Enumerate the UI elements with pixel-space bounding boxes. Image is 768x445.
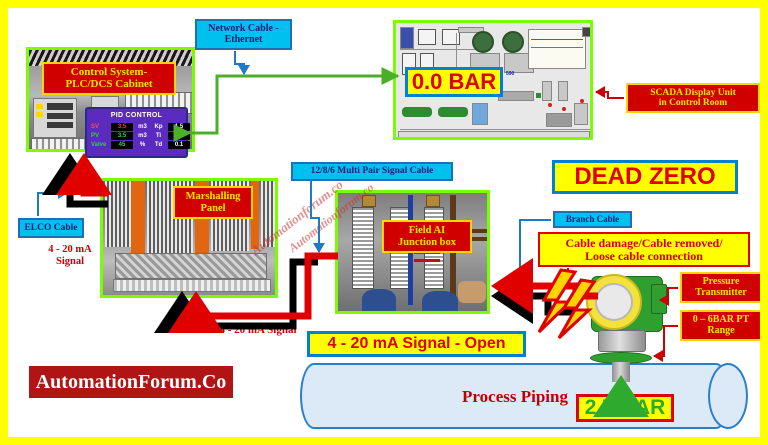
transmitter-neck xyxy=(598,330,646,352)
junction-gland xyxy=(426,195,440,207)
pid-row-unit: m3 xyxy=(136,124,149,130)
scada-equipment xyxy=(402,107,432,117)
pid-row-value: 3.5 xyxy=(111,132,133,140)
label-branch-cable: Branch Cable xyxy=(553,211,632,228)
scada-conveyor xyxy=(498,91,534,101)
label-network-cable: Network Cable - Ethernet xyxy=(195,19,292,50)
pid-control-panel: PID CONTROL SV3.5m3Kp1.5PV3.5m3Ti0.5Valv… xyxy=(85,107,188,158)
pid-gain-key: Kp xyxy=(152,124,165,130)
pid-row-unit: m3 xyxy=(136,133,149,139)
scada-alarm-dot xyxy=(548,103,552,107)
marshalling-duct xyxy=(113,279,271,292)
scada-tag-value: 590 xyxy=(506,71,514,77)
brand-logo: AutomationForum.Co xyxy=(29,366,233,398)
pid-row-value: 3.5 xyxy=(111,123,133,131)
reading-scada-bar: 0.0 BAR xyxy=(405,67,503,97)
pid-values-grid: SV3.5m3Kp1.5PV3.5m3Ti0.5Valve45%Td0.1 xyxy=(87,121,186,152)
scada-valve xyxy=(536,93,541,98)
plc-display xyxy=(47,122,73,128)
scada-block xyxy=(472,103,488,125)
scada-silo xyxy=(574,103,588,125)
label-multi-pair-cable: 12/8/6 Multi Pair Signal Cable xyxy=(291,162,453,181)
scada-alarm-dot xyxy=(562,107,566,111)
marshalling-terminal-rail xyxy=(131,181,145,259)
label-cable-damage: Cable damage/Cable removed/ Loose cable … xyxy=(538,232,750,267)
scada-status-bar xyxy=(398,131,590,139)
transmitter-impulse-stem xyxy=(612,362,630,382)
plc-display xyxy=(47,113,73,119)
diagram-canvas: Control System- PLC/DCS Cabinet PID CONT… xyxy=(8,8,760,437)
plc-led xyxy=(36,104,43,109)
transmitter-display-glass xyxy=(595,283,633,321)
junction-terminal-strip xyxy=(352,207,374,289)
label-pt-range: 0 – 6BAR PT Range xyxy=(680,310,760,341)
marshalling-wiring xyxy=(105,181,131,247)
scada-block xyxy=(400,27,414,49)
scada-trend-chart xyxy=(528,29,586,69)
junction-skin xyxy=(458,281,486,303)
label-control-system: Control System- PLC/DCS Cabinet xyxy=(42,62,176,95)
junction-technician xyxy=(362,289,396,313)
scada-equipment xyxy=(438,107,468,117)
network-cable-leader xyxy=(235,51,244,74)
pid-row-key: SV xyxy=(91,124,108,130)
pid-gain-value: 0.1 xyxy=(168,141,190,149)
scada-tank xyxy=(418,29,436,45)
scada-trend-line xyxy=(531,47,583,48)
pid-row-key: Valve xyxy=(91,142,108,148)
pid-row-key: PV xyxy=(91,133,108,139)
pid-gain-value: 0.5 xyxy=(168,132,190,140)
pid-gain-value: 1.5 xyxy=(168,123,190,131)
scada-gauge xyxy=(472,31,494,53)
scada-vessel xyxy=(558,81,568,101)
pid-gain-key: Td xyxy=(152,142,165,148)
plc-io-rack xyxy=(31,138,89,152)
label-dead-zero: DEAD ZERO xyxy=(552,160,738,194)
label-field-ai-junction-box: Field AI Junction box xyxy=(382,220,472,253)
elco-cable-leader xyxy=(38,193,67,216)
pid-panel-title: PID CONTROL xyxy=(87,109,186,121)
ethernet-bus-line xyxy=(190,76,398,133)
junction-technician xyxy=(422,291,458,314)
label-signal-open: 4 - 20 mA Signal - Open xyxy=(307,331,526,357)
scada-vessel xyxy=(542,81,552,101)
label-scada-unit: SCADA Display Unit in Control Room xyxy=(626,83,760,113)
process-pipe-end-cap xyxy=(708,363,748,429)
scada-label-leader xyxy=(596,92,624,98)
scada-hopper xyxy=(546,113,572,127)
reading-process-bar: 2.7 BAR xyxy=(576,394,674,422)
label-signal-left: 4 - 20 mA Signal xyxy=(25,244,115,268)
scada-block xyxy=(582,27,592,37)
label-elco-cable: ELCO Cable xyxy=(18,218,84,238)
scada-gauge xyxy=(502,31,524,53)
scada-pipe xyxy=(400,129,590,130)
pid-gain-key: Ti xyxy=(152,133,165,139)
pid-row-value: 45 xyxy=(111,141,133,149)
signal-black-line-right xyxy=(498,296,584,312)
transmitter-terminal-side xyxy=(651,284,667,314)
marshalling-cable-tray xyxy=(115,253,267,279)
label-pressure-transmitter: Pressure Transmitter xyxy=(680,272,760,303)
junction-wire xyxy=(414,259,440,262)
plc-led xyxy=(36,112,43,117)
scada-trend-line xyxy=(531,39,583,40)
label-marshalling-panel: Marshalling Panel xyxy=(173,186,253,219)
signal-red-line-right xyxy=(498,286,598,296)
pid-row-unit: % xyxy=(136,142,149,148)
plc-display xyxy=(47,103,73,110)
